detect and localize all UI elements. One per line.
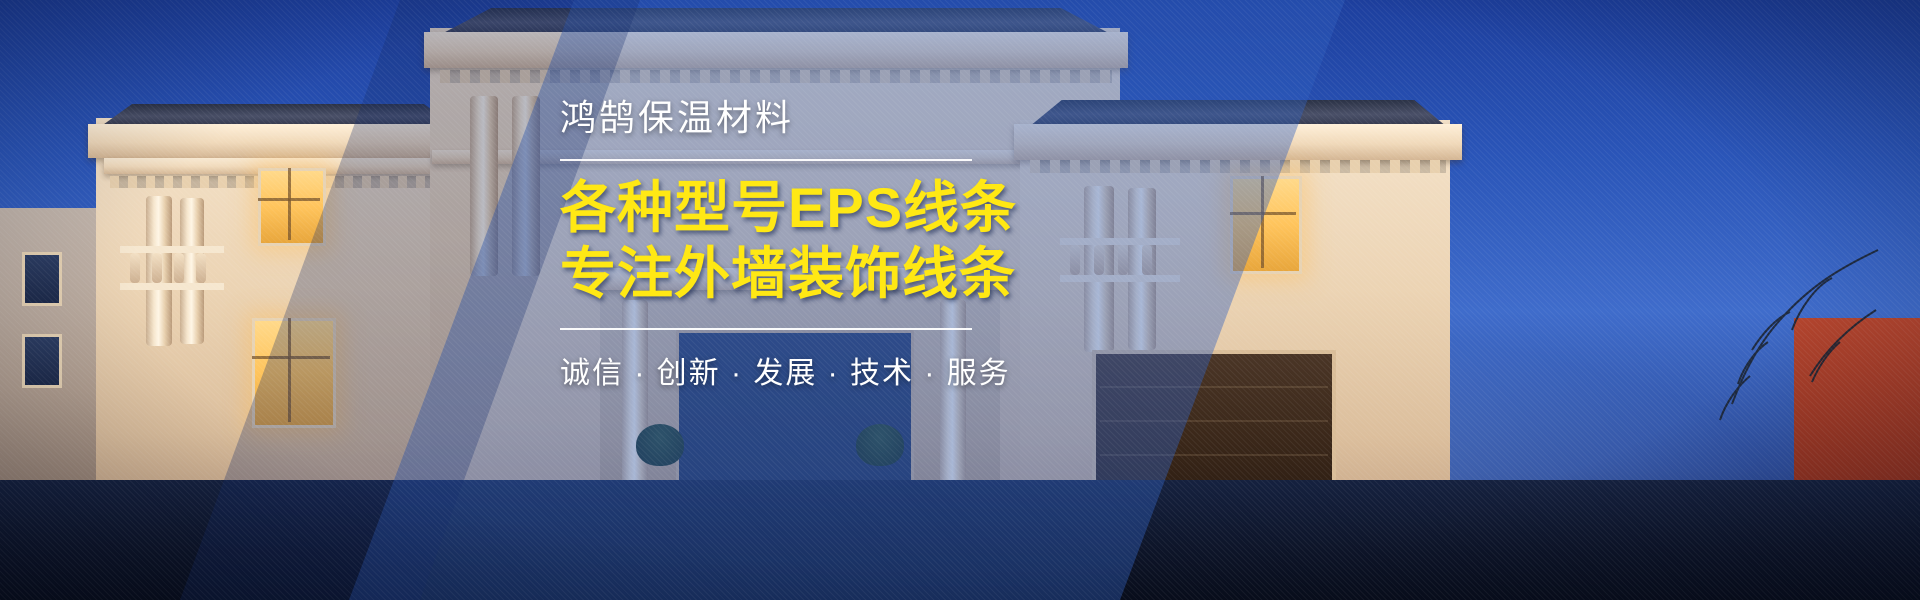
headline-line-2: 专注外墙装饰线条 — [560, 241, 1020, 307]
baluster — [1070, 245, 1080, 275]
window-neighbor — [22, 252, 62, 306]
foreground-ground — [0, 480, 1920, 600]
window-right-upper — [1230, 176, 1302, 274]
garage-panel-line — [1100, 386, 1328, 388]
planter-urn — [856, 424, 904, 466]
baluster — [1142, 245, 1152, 275]
headline-line-1: 各种型号EPS线条 — [560, 175, 1020, 241]
balustrade-rail — [120, 246, 224, 253]
baluster — [196, 253, 206, 283]
villa-right-roof — [1012, 100, 1464, 126]
column — [512, 96, 540, 276]
banner-text-block: 鸿鹄保温材料 各种型号EPS线条 专注外墙装饰线条 诚信 · 创新 · 发展 ·… — [560, 96, 1020, 392]
garage-panel-line — [1100, 420, 1328, 422]
mullion — [1261, 176, 1264, 268]
mullion — [288, 318, 291, 422]
villa-center-cornice — [424, 32, 1128, 68]
window-left-lower — [252, 318, 336, 428]
mullion — [258, 198, 320, 201]
villa-center-roof — [420, 8, 1132, 34]
balustrade-rail — [1060, 238, 1180, 245]
garage-panel-line — [1100, 454, 1328, 456]
villa-left-cornice — [88, 124, 468, 158]
mullion — [1230, 212, 1296, 215]
brand-name: 鸿鹄保温材料 — [560, 96, 1020, 139]
divider-bottom — [560, 328, 972, 330]
dentil-row-right — [1030, 160, 1446, 173]
baluster — [174, 253, 184, 283]
mullion — [288, 168, 291, 240]
window-neighbor — [22, 334, 62, 388]
column — [470, 96, 498, 276]
villa-right-cornice — [1014, 124, 1462, 160]
promo-banner: 鸿鹄保温材料 各种型号EPS线条 专注外墙装饰线条 诚信 · 创新 · 发展 ·… — [0, 0, 1920, 600]
tagline: 诚信 · 创新 · 发展 · 技术 · 服务 — [560, 348, 1020, 392]
mullion — [252, 356, 330, 359]
divider-top — [560, 159, 972, 161]
baluster — [130, 253, 140, 283]
balustrade-base — [120, 283, 224, 290]
baluster — [1094, 245, 1104, 275]
tree-branch-icon — [1640, 190, 1880, 460]
villa-left-roof — [86, 104, 470, 126]
baluster — [152, 253, 162, 283]
balustrade-base — [1060, 275, 1180, 282]
baluster — [1118, 245, 1128, 275]
dentil-row-center — [440, 70, 1112, 83]
window-left-upper — [258, 168, 326, 246]
planter-urn — [636, 424, 684, 466]
